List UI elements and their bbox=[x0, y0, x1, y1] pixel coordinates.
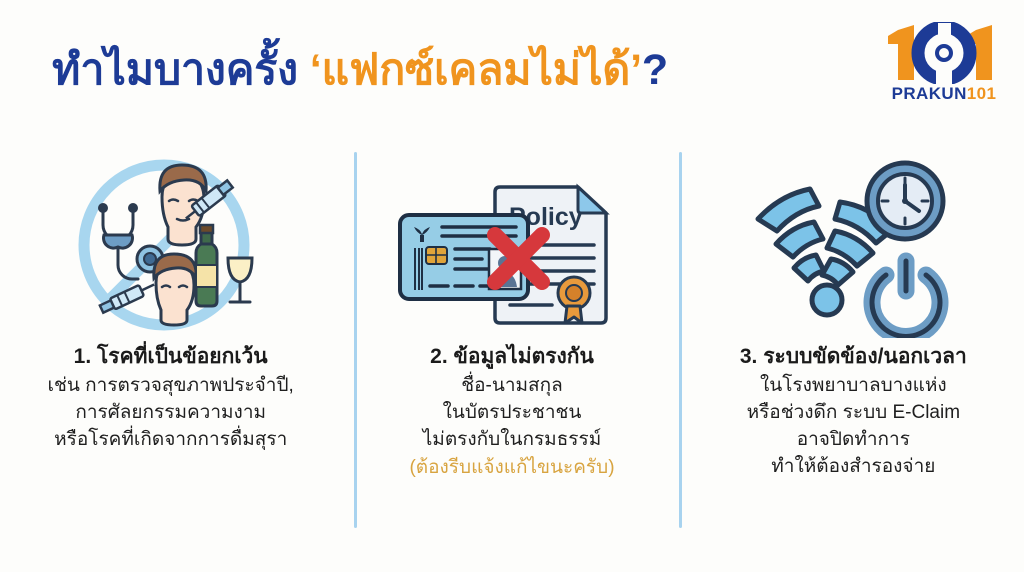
column-2-line-2: ในบัตรประชาชน bbox=[443, 400, 582, 427]
column-2-line-1: ชื่อ-นามสกุล bbox=[461, 373, 563, 400]
system-offline-icon bbox=[728, 148, 978, 343]
column-3-line-1: ในโรงพยาบาลบางแห่ง bbox=[760, 373, 947, 400]
infographic-canvas: ทำไมบางครั้ง ‘แฟกซ์เคลมไม่ได้’? bbox=[0, 0, 1024, 572]
logo-wordmark-101: 101 bbox=[967, 84, 997, 103]
column-2: Policy bbox=[341, 148, 682, 568]
mismatched-documents-icon: Policy bbox=[382, 148, 642, 343]
column-2-line-3: ไม่ตรงกับในกรมธรรม์ bbox=[423, 427, 602, 454]
page-title-part-blue-1: ทำไมบางครั้ง bbox=[52, 46, 310, 94]
column-1-line-3: หรือโรคที่เกิดจากการดื่มสุรา bbox=[54, 427, 287, 454]
brand-logo: PRAKUN101 bbox=[880, 22, 1008, 114]
column-3-heading: 3. ระบบขัดข้อง/นอกเวลา bbox=[740, 343, 967, 371]
column-3-line-4: ทำให้ต้องสำรองจ่าย bbox=[771, 454, 935, 481]
column-1-heading: 1. โรคที่เป็นข้อยกเว้น bbox=[74, 343, 268, 371]
page-title-part-orange: ‘แฟกซ์เคลมไม่ได้’ bbox=[310, 46, 642, 94]
logo-wordmark-prakun: PRAKUN bbox=[892, 84, 967, 103]
column-1-line-2: การศัลยกรรมความงาม bbox=[75, 400, 266, 427]
column-2-note: (ต้องรีบแจ้งแก้ไขนะครับ) bbox=[409, 455, 614, 482]
logo-mark-101-icon bbox=[880, 22, 1008, 84]
columns-container: 1. โรคที่เป็นข้อยกเว้น เช่น การตรวจสุขภา… bbox=[0, 148, 1024, 568]
column-3-line-3: อาจปิดทำการ bbox=[797, 427, 910, 454]
logo-wordmark: PRAKUN101 bbox=[880, 84, 1008, 104]
column-1: 1. โรคที่เป็นข้อยกเว้น เช่น การตรวจสุขภา… bbox=[0, 148, 341, 568]
column-3: 3. ระบบขัดข้อง/นอกเวลา ในโรงพยาบาลบางแห่… bbox=[683, 148, 1024, 568]
header: ทำไมบางครั้ง ‘แฟกซ์เคลมไม่ได้’? bbox=[0, 0, 1024, 140]
no-exclusions-icon bbox=[46, 148, 296, 343]
column-2-heading: 2. ข้อมูลไม่ตรงกัน bbox=[430, 343, 594, 371]
column-3-line-2: หรือช่วงดึก ระบบ E-Claim bbox=[747, 400, 960, 427]
column-1-line-1: เช่น การตรวจสุขภาพประจำปี, bbox=[48, 373, 294, 400]
page-title: ทำไมบางครั้ง ‘แฟกซ์เคลมไม่ได้’? bbox=[52, 44, 668, 98]
page-title-part-blue-2: ? bbox=[642, 46, 668, 94]
